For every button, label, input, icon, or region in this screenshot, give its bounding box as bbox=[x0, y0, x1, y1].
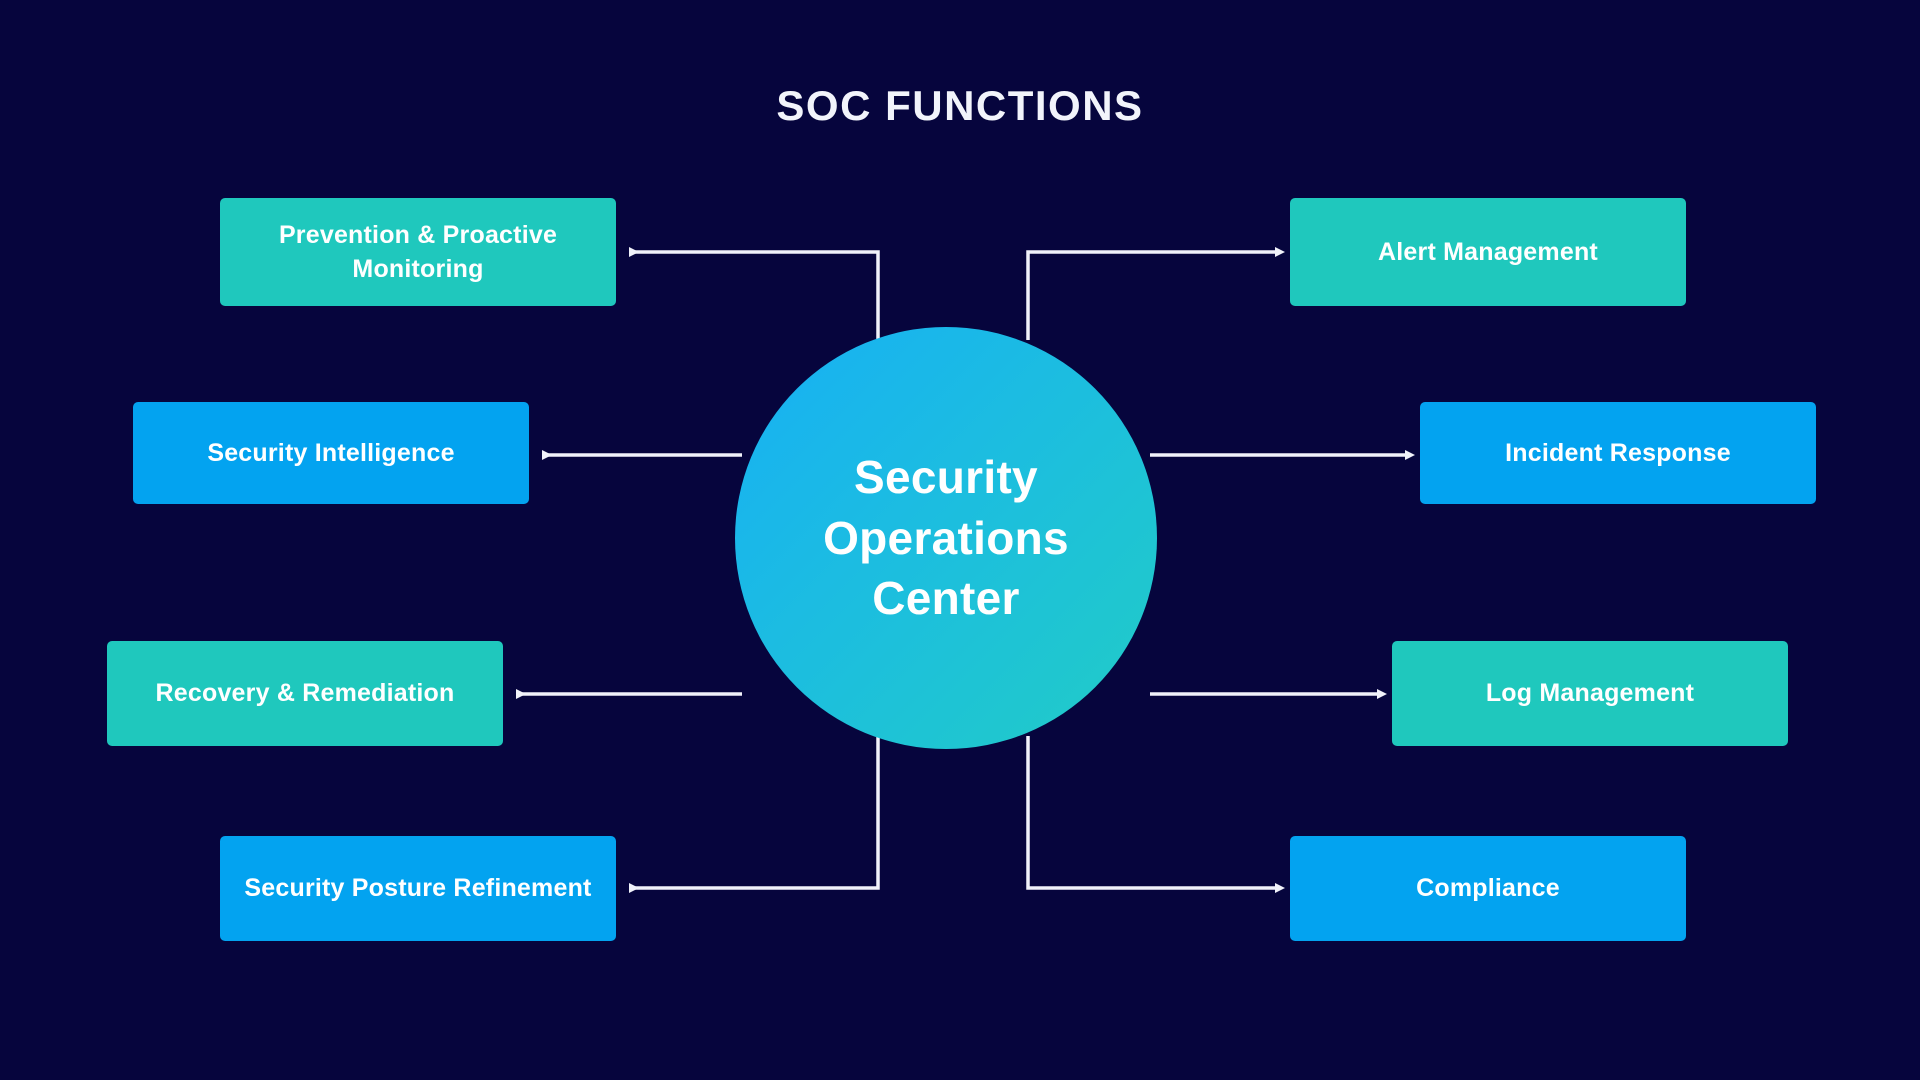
hub-label-line-1: Security bbox=[823, 447, 1069, 508]
node-label: Alert Management bbox=[1378, 235, 1598, 270]
node-label: Compliance bbox=[1416, 871, 1560, 906]
diagram-canvas: SOC FUNCTIONS bbox=[0, 0, 1920, 1080]
connector-posture bbox=[630, 736, 878, 888]
connector-alert bbox=[1028, 252, 1276, 340]
node-security-posture-refinement[interactable]: Security Posture Refinement bbox=[220, 836, 616, 941]
node-incident-response[interactable]: Incident Response bbox=[1420, 402, 1816, 504]
page-title: SOC FUNCTIONS bbox=[0, 82, 1920, 130]
node-compliance[interactable]: Compliance bbox=[1290, 836, 1686, 941]
hub-label-line-2: Operations bbox=[823, 508, 1069, 569]
node-label: Log Management bbox=[1486, 676, 1694, 711]
node-label: Security Intelligence bbox=[207, 436, 454, 471]
node-recovery-and-remediation[interactable]: Recovery & Remediation bbox=[107, 641, 503, 746]
node-prevention-and-proactive-monitoring[interactable]: Prevention & Proactive Monitoring bbox=[220, 198, 616, 306]
node-label: Incident Response bbox=[1505, 436, 1731, 471]
hub-label-line-3: Center bbox=[823, 568, 1069, 629]
node-label: Recovery & Remediation bbox=[156, 676, 455, 711]
node-alert-management[interactable]: Alert Management bbox=[1290, 198, 1686, 306]
node-security-intelligence[interactable]: Security Intelligence bbox=[133, 402, 529, 504]
node-log-management[interactable]: Log Management bbox=[1392, 641, 1788, 746]
node-label: Security Posture Refinement bbox=[244, 871, 591, 906]
connector-compliance bbox=[1028, 736, 1276, 888]
hub-circle-security-operations-center[interactable]: Security Operations Center bbox=[735, 327, 1157, 749]
connector-prevention bbox=[630, 252, 878, 340]
hub-label: Security Operations Center bbox=[797, 447, 1095, 629]
node-label: Prevention & Proactive Monitoring bbox=[234, 218, 602, 287]
